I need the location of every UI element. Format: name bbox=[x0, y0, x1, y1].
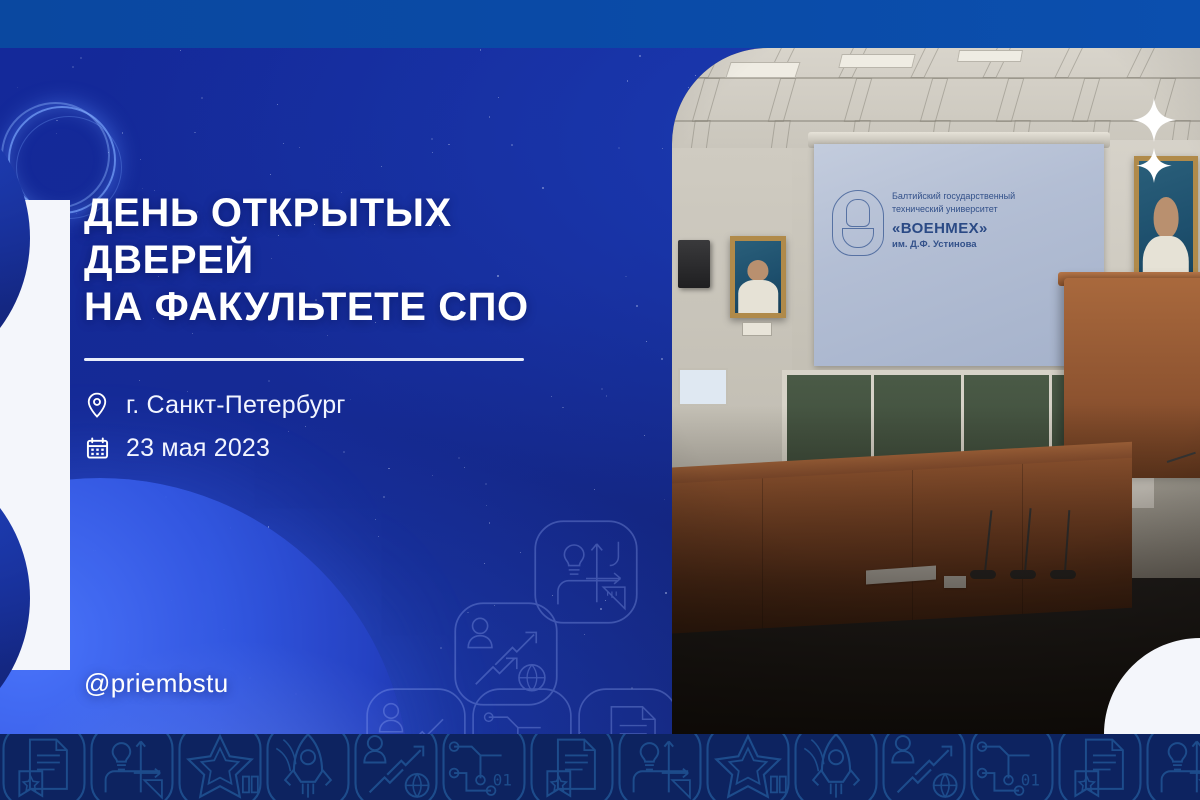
document-star-icon bbox=[1056, 734, 1144, 800]
svg-text:01: 01 bbox=[1021, 770, 1040, 789]
svg-text:01: 01 bbox=[493, 770, 512, 789]
star-icon bbox=[176, 734, 264, 800]
star-icon bbox=[704, 734, 792, 800]
title-line-1: ДЕНЬ ОТКРЫТЫХ ДВЕРЕЙ bbox=[84, 191, 452, 282]
top-brand-bar bbox=[0, 0, 1200, 48]
detail-date: 23 мая 2023 bbox=[84, 434, 624, 463]
lightbulb-icon bbox=[616, 734, 704, 800]
circuit-icon: 01 bbox=[968, 734, 1056, 800]
document-star-icon bbox=[0, 734, 88, 800]
detail-location: г. Санкт-Петербург bbox=[84, 391, 624, 420]
title-line-2: НА ФАКУЛЬТЕТЕ СПО bbox=[84, 284, 624, 331]
document-star-icon bbox=[528, 734, 616, 800]
person-lightning-icon bbox=[352, 734, 440, 800]
left-edge-lens-decoration bbox=[0, 200, 70, 670]
social-handle: @priembstu bbox=[84, 668, 229, 699]
event-photo: Балтийский государственный технический у… bbox=[672, 48, 1200, 734]
person-lightning-icon bbox=[880, 734, 968, 800]
poster-content: ДЕНЬ ОТКРЫТЫХ ДВЕРЕЙ НА ФАКУЛЬТЕТЕ СПО г… bbox=[84, 190, 624, 463]
lightbulb-icon bbox=[88, 734, 176, 800]
rocket-icon bbox=[264, 734, 352, 800]
rocket-icon bbox=[792, 734, 880, 800]
event-poster: 01 bbox=[0, 0, 1200, 800]
circuit-icon: 01 bbox=[440, 734, 528, 800]
calendar-icon bbox=[84, 434, 110, 462]
location-pin-icon bbox=[84, 391, 110, 419]
lightbulb-icon bbox=[1144, 734, 1200, 800]
bottom-icon-strip: 0101 bbox=[0, 734, 1200, 800]
photo-vignette bbox=[672, 48, 1200, 734]
date-text: 23 мая 2023 bbox=[126, 434, 270, 463]
event-details: г. Санкт-Петербург 23 bbox=[84, 391, 624, 463]
page-title: ДЕНЬ ОТКРЫТЫХ ДВЕРЕЙ НА ФАКУЛЬТЕТЕ СПО bbox=[84, 190, 624, 332]
location-text: г. Санкт-Петербург bbox=[126, 391, 346, 420]
title-divider bbox=[84, 358, 524, 361]
sparkle-decoration bbox=[1128, 96, 1200, 196]
